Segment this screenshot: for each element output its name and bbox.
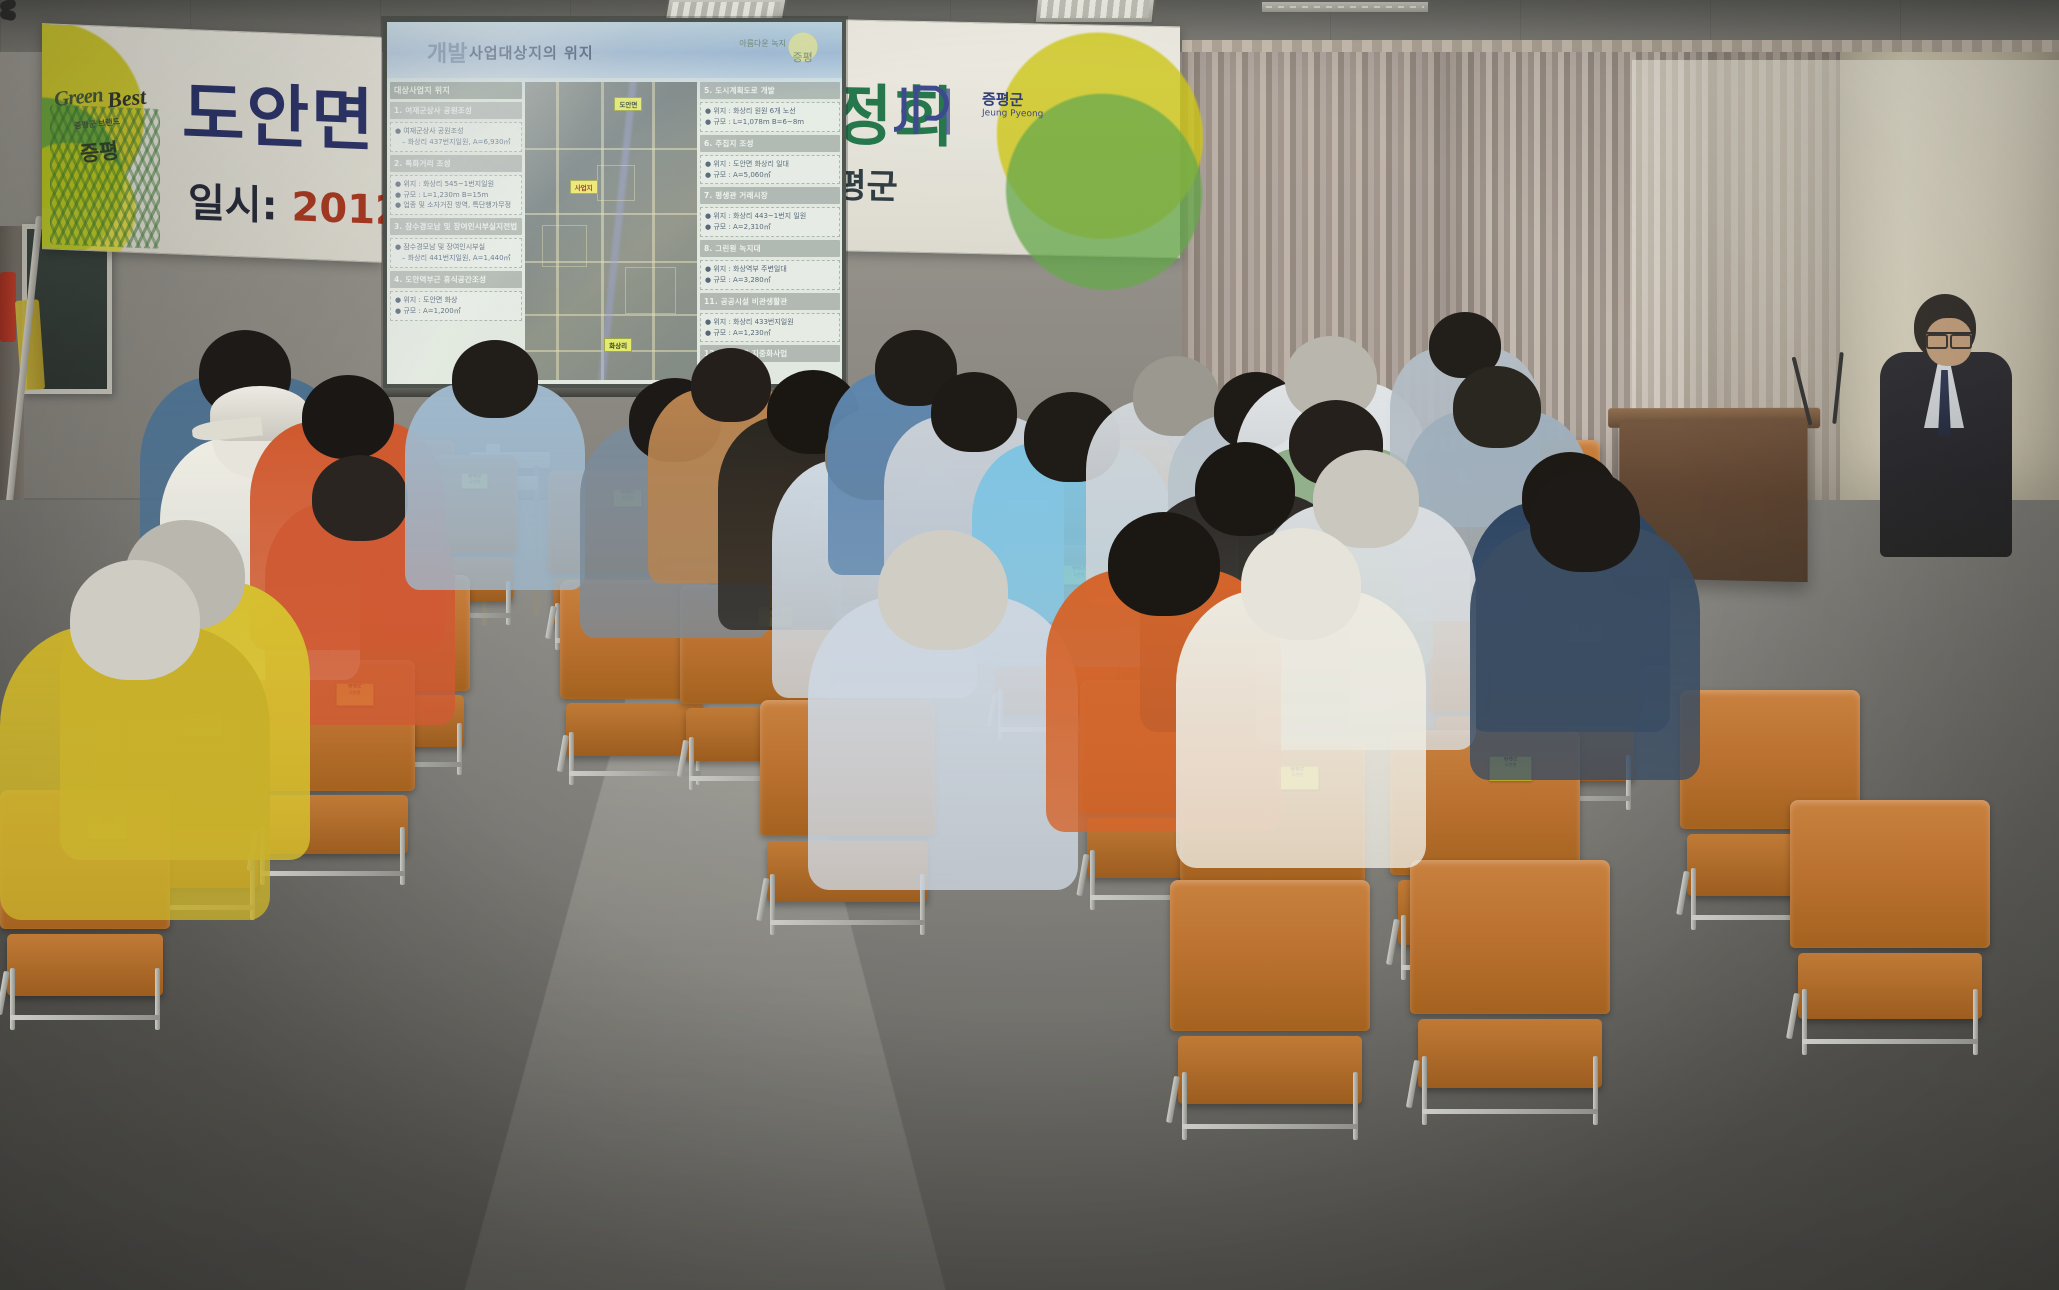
slide-item: – 화상리 437번지일원, A=6,930㎡ <box>395 137 517 148</box>
slide-item: ● 업종 및 소자거진 방역, 특단행가무정 <box>395 200 517 211</box>
logo-best-text: Best <box>105 84 147 114</box>
audience-head <box>1241 528 1361 640</box>
slide-item: ● 위지 : 도안면 화상 <box>395 295 517 306</box>
audience-member <box>808 530 1078 890</box>
audience-member <box>0 560 270 920</box>
slide-subtitle: 사업대상지의 위지 <box>469 42 594 63</box>
slide-item: ● 위지 : 화상리 443~1번지 일원 <box>705 211 835 222</box>
slide-section-label: 대상사업지 위지 <box>390 82 522 99</box>
slide-item: ● 위지 : 화상리 545~1번지일원 <box>395 179 517 190</box>
logo-korean-text: 증평 <box>78 135 120 169</box>
slide-item: ● 위지 : 화상역부 주변일대 <box>705 264 835 275</box>
audience-member <box>1470 470 1700 780</box>
audience-head <box>1453 366 1541 448</box>
slide-group-heading: 4. 도안역부근 휴식공간조성 <box>390 271 522 288</box>
slide-item: ● 위지 : 화상리 433번지일원 <box>705 317 835 328</box>
map-tag-bottom: 화상리 <box>604 338 632 352</box>
green-best-logo: Green Best 증평군 브랜드 증평 <box>54 83 172 114</box>
slide-group-heading: 2. 특화거리 조성 <box>390 155 522 172</box>
slide-item: ● 규모 : A=2,310㎡ <box>705 222 835 233</box>
projection-screen-frame: 개발 사업대상지의 위지 아름다운 녹지 증평 대상사업지 위지 1. 여재군상… <box>383 18 846 388</box>
slide-group-heading: 11. 공공시설 비관생활관 <box>700 293 840 310</box>
banner-date-label: 일시: <box>188 180 278 230</box>
slide-item: ● 규모 : L=1,078m B=6~8m <box>705 117 835 128</box>
audience-chair[interactable] <box>1410 860 1610 1125</box>
audience-chair[interactable] <box>1790 800 1990 1055</box>
slide-group-items: ● 위지 : 화상리 433번지일원 ● 규모 : A=1,230㎡ <box>700 313 840 343</box>
slide-item: ● 위지 : 도안면 화상리 일대 <box>705 159 835 170</box>
slide-header: 개발 사업대상지의 위지 아름다운 녹지 증평 <box>387 22 842 78</box>
slide-right-column: 5. 도시계획도로 개발 ● 위지 : 화상리 원원 6개 노선 ● 규모 : … <box>700 82 840 380</box>
slide-group-items: ● 잠수경모남 및 장여인시부실 – 화상리 441번지일원, A=1,440㎡ <box>390 238 522 268</box>
slide-map-column: 도안면 사업지 화상리 <box>525 82 697 380</box>
slide-group-items: ● 여재군상사 공원조성 – 화상리 437번지일원, A=6,930㎡ <box>390 122 522 152</box>
slide-group-heading: 7. 평생관 거래시장 <box>700 187 840 204</box>
jp-wordmark-rom: Jeung Pyeong <box>982 109 1043 121</box>
fire-extinguisher <box>0 272 16 342</box>
audience-member <box>1176 528 1426 868</box>
audience-member <box>405 340 585 590</box>
slide-item: ● 규모 : A=5,060㎡ <box>705 170 835 181</box>
slide-group-items: ● 위지 : 화상역부 주변일대 ● 규모 : A=3,280㎡ <box>700 260 840 290</box>
slide-group-heading: 8. 그린원 녹지대 <box>700 240 840 257</box>
slide-body: 대상사업지 위지 1. 여재군상사 공원조성 ● 여재군상사 공원조성 – 화상… <box>387 78 842 384</box>
slide-item: ● 규모 : A=1,200㎡ <box>395 306 517 317</box>
slide-watermark: 아름다운 녹지 증평 <box>779 30 826 65</box>
slide-item: ● 위지 : 화상리 원원 6개 노선 <box>705 106 835 117</box>
chair-frame <box>1794 989 1986 1055</box>
map-tag-mid: 사업지 <box>570 180 598 194</box>
slide-item: ● 규모 : A=3,280㎡ <box>705 275 835 286</box>
audience-head <box>1530 470 1640 572</box>
slide-left-column: 대상사업지 위지 1. 여재군상사 공원조성 ● 여재군상사 공원조성 – 화상… <box>390 82 522 380</box>
audience-head <box>312 455 408 541</box>
slide-group-items: ● 위지 : 도안면 화상 ● 규모 : A=1,200㎡ <box>390 291 522 321</box>
chair-frame <box>1414 1056 1606 1125</box>
banner-left: Green Best 증평군 브랜드 증평 도안면 일시: 2012. <box>42 23 382 263</box>
slide-title: 개발 <box>427 36 467 68</box>
watermark-line1: 아름다운 녹지 <box>739 38 786 49</box>
ceiling-light-strip <box>1260 0 1430 14</box>
jp-logo-icon <box>890 81 982 145</box>
audience-head <box>302 375 394 459</box>
slide-item: ● 규모 : L=1,230m B=15m <box>395 190 517 201</box>
projection-screen: 개발 사업대상지의 위지 아름다운 녹지 증평 대상사업지 위지 1. 여재군상… <box>387 22 842 384</box>
audience-head <box>70 560 200 680</box>
audience-head <box>452 340 538 418</box>
chair-backrest <box>1170 880 1370 1031</box>
audience-chair[interactable] <box>1170 880 1370 1140</box>
slide-group-heading: 1. 여재군상사 공원조성 <box>390 102 522 119</box>
eyeglasses-icon <box>1926 332 1972 343</box>
slide-group-items: ● 위지 : 도안면 화상리 일대 ● 규모 : A=5,060㎡ <box>700 155 840 185</box>
chair-backrest <box>1410 860 1610 1014</box>
slide-group-items: ● 위지 : 화상리 545~1번지일원 ● 규모 : L=1,230m B=1… <box>390 175 522 216</box>
slide-group-items: ● 위지 : 화상리 원원 6개 노선 ● 규모 : L=1,078m B=6~… <box>700 102 840 132</box>
slide-aerial-map: 도안면 사업지 화상리 <box>525 82 697 380</box>
presenter <box>1866 294 2026 554</box>
chair-frame <box>3 968 166 1030</box>
slide-group-heading: 6. 주집지 조성 <box>700 135 840 152</box>
chair-frame <box>1174 1072 1366 1140</box>
photo-scene: Green Best 증평군 브랜드 증평 도안면 일시: 2012. 공정회 … <box>0 0 2059 1290</box>
jp-logo-wordmark: 증평군 Jeung Pyeong <box>982 91 1043 120</box>
slide-group-heading: 3. 잠수경모남 및 장여인시부실지전법 <box>390 218 522 235</box>
jp-wordmark-kor: 증평군 <box>982 90 1023 109</box>
watermark-line2: 증평 <box>779 49 826 65</box>
slide-group-items: ● 위지 : 화상리 443~1번지 일원 ● 규모 : A=2,310㎡ <box>700 207 840 237</box>
banner-left-title: 도안면 <box>182 58 376 165</box>
logo-green-text: Green <box>52 82 104 112</box>
slide-item: – 화상리 441번지일원, A=1,440㎡ <box>395 253 517 264</box>
map-tag-top: 도안면 <box>614 97 642 111</box>
chair-backrest <box>1790 800 1990 948</box>
slide-item: ● 여재군상사 공원조성 <box>395 126 517 137</box>
slide-group-heading: 5. 도시계획도로 개발 <box>700 82 840 99</box>
audience-head <box>878 530 1008 650</box>
slide-item: ● 잠수경모남 및 장여인시부실 <box>395 242 517 253</box>
slide-item: ● 규모 : A=1,230㎡ <box>705 328 835 339</box>
